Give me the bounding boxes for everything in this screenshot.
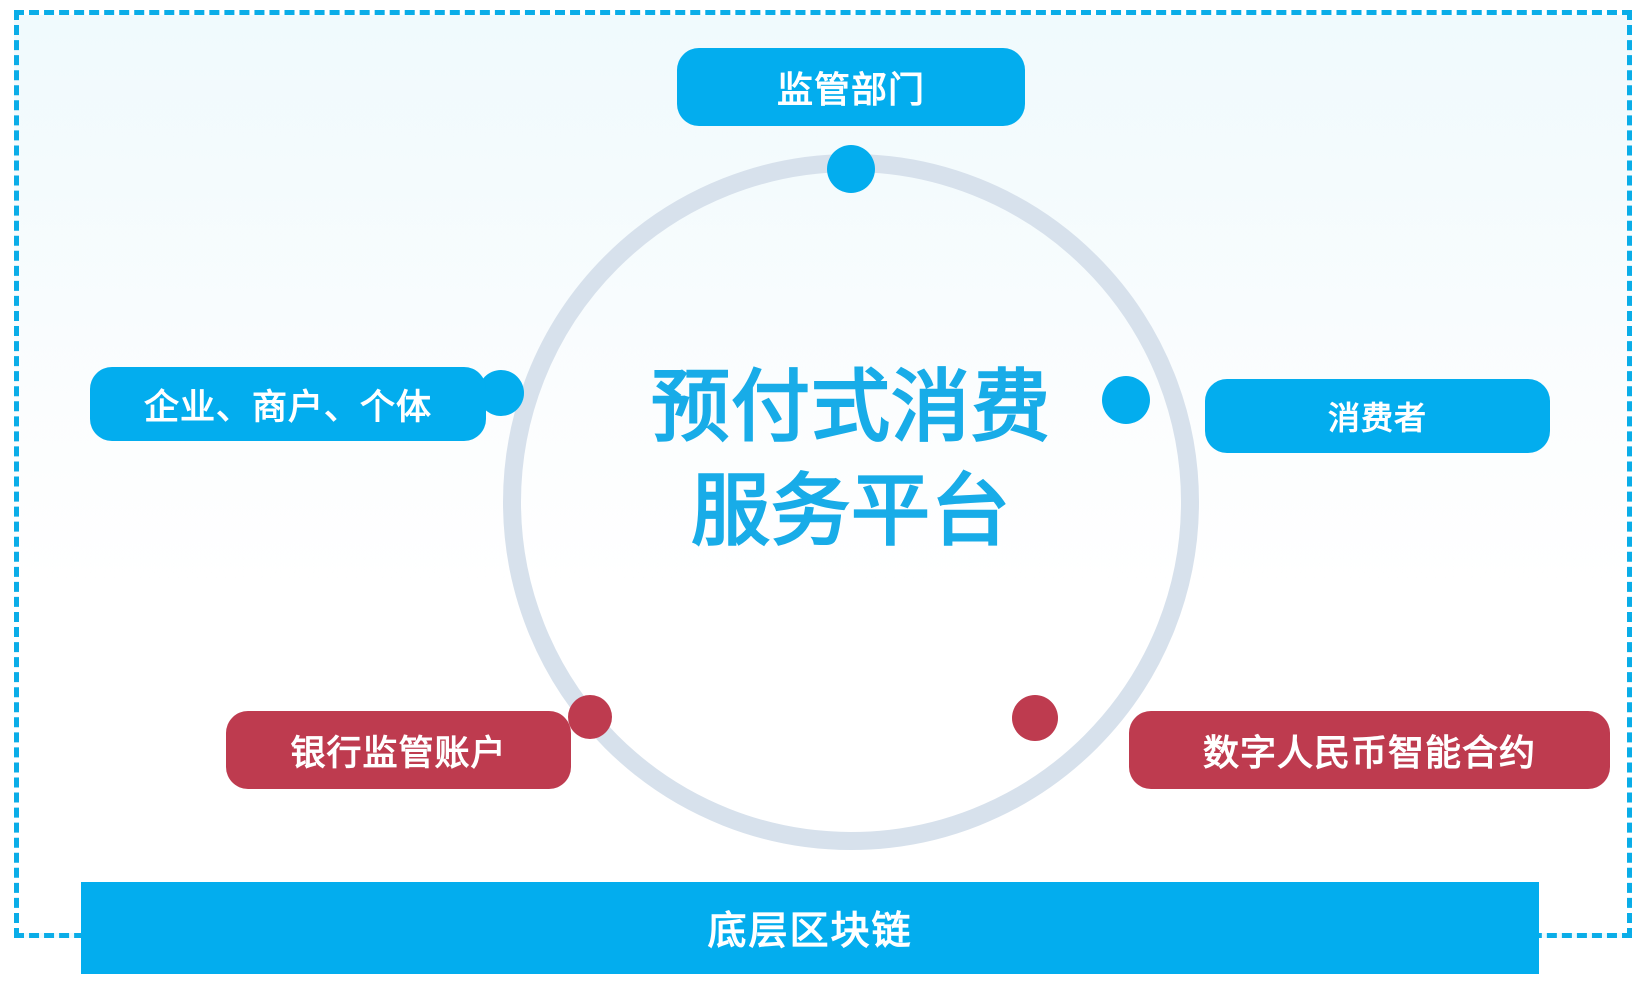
diagram-canvas: 预付式消费 服务平台 监管部门 企业、商户、个体 消费者 银行监管账户 数字人民… (0, 0, 1646, 1000)
node-badge-merchants[interactable]: 企业、商户、个体 (90, 367, 486, 441)
node-badge-bank-account[interactable]: 银行监管账户 (226, 711, 571, 789)
center-hub-label: 预付式消费 服务平台 (575, 355, 1127, 564)
dashed-frame: 预付式消费 服务平台 监管部门 企业、商户、个体 消费者 银行监管账户 数字人民… (14, 10, 1632, 938)
node-dot-smart-contract (1012, 695, 1058, 741)
foundation-bar-blockchain[interactable]: 底层区块链 (81, 882, 1539, 974)
node-badge-smart-contract[interactable]: 数字人民币智能合约 (1129, 711, 1610, 789)
node-dot-bank-account (568, 695, 612, 739)
node-badge-regulator[interactable]: 监管部门 (677, 48, 1025, 126)
node-badge-consumers[interactable]: 消费者 (1205, 379, 1550, 453)
node-dot-consumers (1102, 376, 1150, 424)
node-dot-regulator (827, 145, 875, 193)
